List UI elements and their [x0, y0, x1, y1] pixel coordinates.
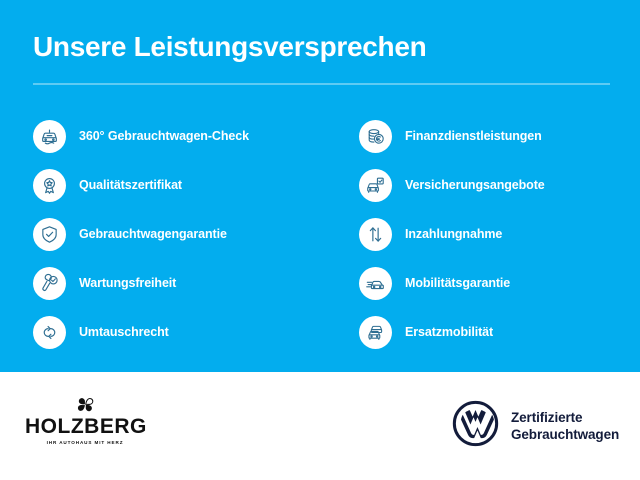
feature-label: Versicherungsangebote: [405, 178, 545, 192]
feature-item-gebrauchtwagengarantie: Gebrauchtwagengarantie: [33, 210, 333, 258]
car-speed-icon: [359, 267, 392, 300]
feature-item-inzahlungnahme: Inzahlungnahme: [359, 210, 640, 258]
page-title: Unsere Leistungsversprechen: [33, 32, 426, 63]
feature-label: Gebrauchtwagengarantie: [79, 227, 227, 241]
feature-label: Qualitätszertifikat: [79, 178, 182, 192]
holzberg-tagline: IHR AUTOHAUS MIT HERZ: [25, 440, 145, 445]
vw-text-line2: Gebrauchtwagen: [511, 426, 619, 443]
feature-label: Finanzdienstleistungen: [405, 129, 542, 143]
feature-item-wartungsfreiheit: Wartungsfreiheit: [33, 259, 333, 307]
feature-item-qualitaetszertifikat: Qualitätszertifikat: [33, 161, 333, 209]
feature-item-gebrauchtwagen-check: 360° Gebrauchtwagen-Check: [33, 112, 333, 160]
feature-grid: 360° Gebrauchtwagen-Check Qualitätszerti…: [0, 112, 640, 362]
wrench-check-icon: [33, 267, 66, 300]
footer-bar: HOLZBERG IHR AUTOHAUS MIT HERZ Zertifizi…: [0, 372, 640, 480]
shield-check-icon: [33, 218, 66, 251]
car-check-icon: [33, 120, 66, 153]
vw-text-line1: Zertifizierte: [511, 409, 619, 426]
vw-certified-logo: Zertifizierte Gebrauchtwagen: [452, 400, 619, 452]
feature-item-umtauschrecht: Umtauschrecht: [33, 308, 333, 356]
hero-panel: Unsere Leistungsversprechen: [0, 0, 640, 372]
title-divider: [33, 83, 610, 85]
feature-column-left: 360° Gebrauchtwagen-Check Qualitätszerti…: [33, 112, 333, 357]
clover-heart-icon: [25, 394, 145, 414]
feature-label: 360° Gebrauchtwagen-Check: [79, 129, 249, 143]
vw-roundel-icon: [452, 400, 499, 452]
holzberg-wordmark: HOLZBERG: [25, 416, 145, 437]
feature-label: Mobilitätsgarantie: [405, 276, 510, 290]
feature-item-finanzdienstleistungen: Finanzdienstleistungen: [359, 112, 640, 160]
feature-label: Wartungsfreiheit: [79, 276, 176, 290]
holzberg-logo: HOLZBERG IHR AUTOHAUS MIT HERZ: [25, 394, 145, 445]
promo-banner: Unsere Leistungsversprechen: [0, 0, 640, 480]
feature-item-versicherungsangebote: Versicherungsangebote: [359, 161, 640, 209]
car-insurance-icon: [359, 169, 392, 202]
feature-item-ersatzmobilitaet: Ersatzmobilität: [359, 308, 640, 356]
award-badge-icon: [33, 169, 66, 202]
feature-item-mobilitaetsgarantie: Mobilitätsgarantie: [359, 259, 640, 307]
feature-label: Ersatzmobilität: [405, 325, 493, 339]
coins-euro-icon: [359, 120, 392, 153]
feature-label: Inzahlungnahme: [405, 227, 502, 241]
feature-label: Umtauschrecht: [79, 325, 169, 339]
vw-certified-text: Zertifizierte Gebrauchtwagen: [511, 409, 619, 444]
two-cars-icon: [359, 316, 392, 349]
up-down-arrows-icon: [359, 218, 392, 251]
exchange-arrows-icon: [33, 316, 66, 349]
feature-column-right: Finanzdienstleistungen: [359, 112, 640, 357]
